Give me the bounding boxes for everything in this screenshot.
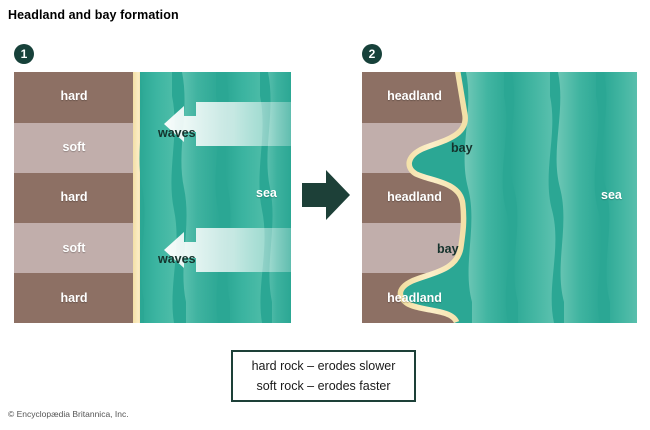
waves-arrow-2 xyxy=(164,228,291,272)
right-arrow-icon xyxy=(300,168,352,222)
rock-band-hard xyxy=(14,72,135,123)
legend-line-hard-rock: hard rock – erodes slower xyxy=(252,356,396,376)
rock-band-hard xyxy=(14,173,135,223)
panel-2-illustration xyxy=(362,72,637,323)
legend-line-soft-rock: soft rock – erodes faster xyxy=(256,376,390,396)
panel-1-illustration xyxy=(14,72,291,323)
step-badge-1: 1 xyxy=(14,44,34,64)
rock-band-soft xyxy=(14,123,135,173)
copyright-credit: © Encyclopædia Britannica, Inc. xyxy=(8,409,129,419)
page-title: Headland and bay formation xyxy=(8,8,179,22)
rock-band-soft xyxy=(14,223,135,273)
diagram-panel-2 xyxy=(362,72,637,323)
step-badge-2: 2 xyxy=(362,44,382,64)
rock-band-hard xyxy=(14,273,135,323)
waves-arrow-1 xyxy=(164,102,291,146)
legend-box: hard rock – erodes slower soft rock – er… xyxy=(231,350,416,402)
diagram-panel-1 xyxy=(14,72,291,323)
